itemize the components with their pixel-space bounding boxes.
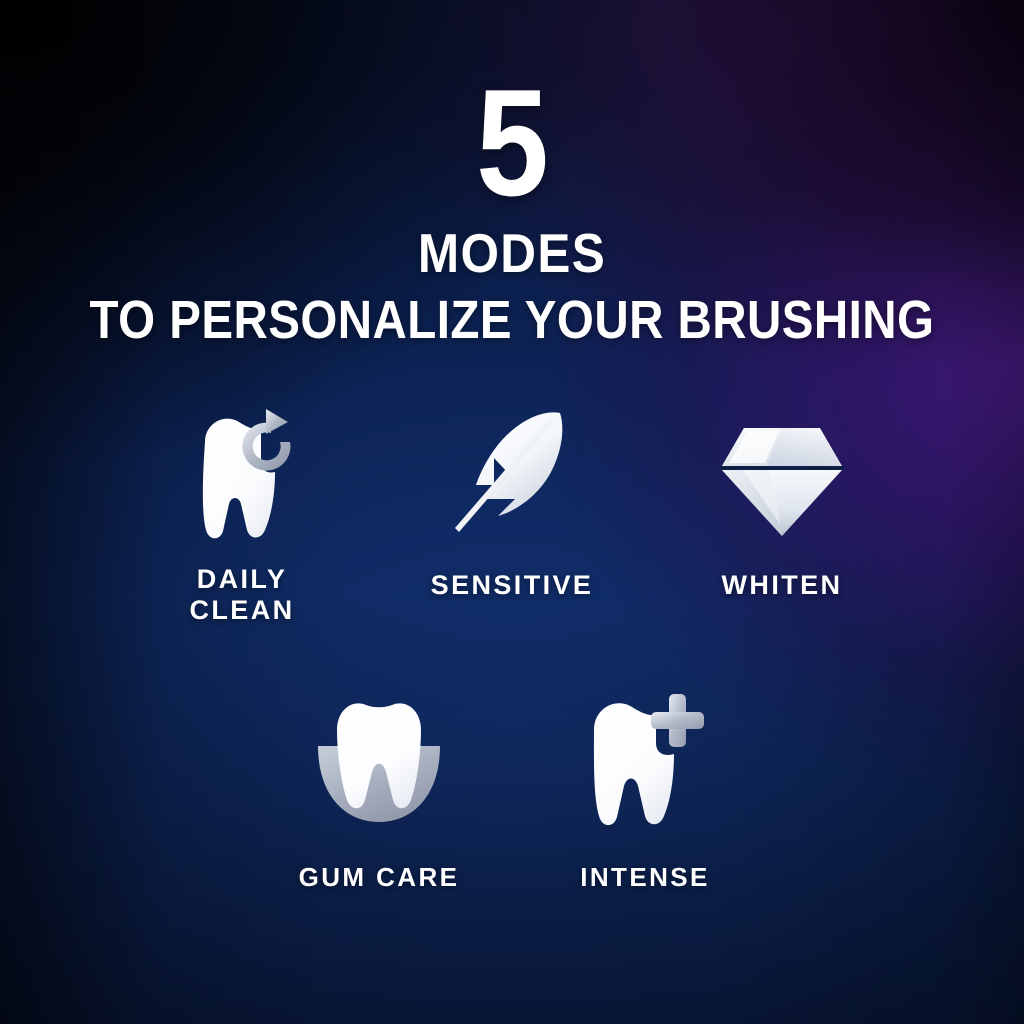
mode-item-gum-care: GUM CARE bbox=[272, 686, 486, 892]
mode-label-sensitive: SENSITIVE bbox=[431, 570, 594, 601]
headline-block: 5 MODES TO PERSONALIZE YOUR BRUSHING bbox=[0, 74, 1024, 347]
tooth-plus-icon bbox=[570, 686, 720, 836]
mode-label-gum-care: GUM CARE bbox=[299, 862, 460, 892]
mode-item-intense: INTENSE bbox=[538, 686, 752, 892]
modes-row-bottom: GUM CARE bbox=[0, 686, 1024, 892]
feather-icon bbox=[437, 400, 587, 550]
mode-item-whiten: WHITEN bbox=[675, 400, 889, 627]
mode-label-whiten: WHITEN bbox=[722, 570, 843, 601]
mode-label-daily-clean: DAILY CLEAN bbox=[190, 564, 295, 627]
diamond-icon bbox=[707, 400, 857, 550]
product-feature-poster: 5 MODES TO PERSONALIZE YOUR BRUSHING bbox=[0, 0, 1024, 1024]
tooth-refresh-icon bbox=[167, 400, 317, 550]
tooth-gum-icon bbox=[304, 686, 454, 836]
mode-count-number: 5 bbox=[72, 74, 953, 214]
mode-item-sensitive: SENSITIVE bbox=[405, 400, 619, 627]
modes-word: MODES bbox=[51, 226, 973, 281]
modes-row-top: DAILY CLEAN bbox=[0, 400, 1024, 627]
mode-label-intense: INTENSE bbox=[580, 862, 709, 892]
tagline: TO PERSONALIZE YOUR BRUSHING bbox=[61, 293, 962, 347]
mode-item-daily-clean: DAILY CLEAN bbox=[135, 400, 349, 627]
